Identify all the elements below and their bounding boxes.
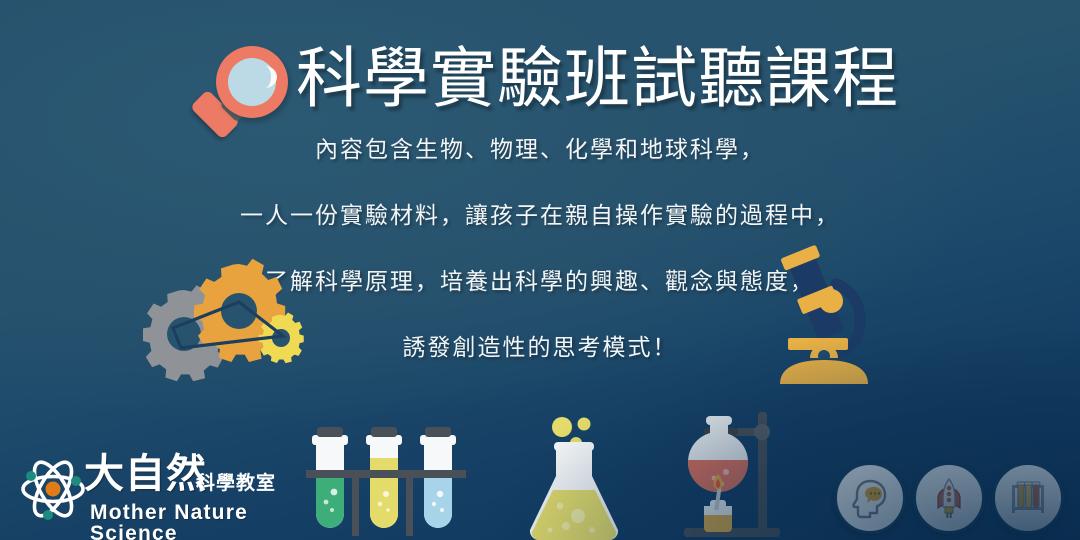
- brand-name-en: Mother Nature Science: [90, 502, 280, 540]
- stand-base: [684, 528, 780, 537]
- badge-brain[interactable]: [834, 462, 906, 534]
- bubble-large: [552, 417, 572, 437]
- brain-head-icon: [846, 474, 894, 522]
- microscope-illustration: [762, 242, 888, 390]
- rack-bar: [306, 470, 466, 478]
- brand-logo[interactable]: 大自然 科學教室 Mother Nature Science: [18, 448, 280, 534]
- erlenmeyer-flask-icon: [516, 412, 632, 540]
- brand-tagline-cn: 科學教室: [196, 474, 276, 493]
- badge-rocket[interactable]: [913, 462, 985, 534]
- flask-illustration: [516, 412, 632, 540]
- poster-canvas: 科學實驗班試聽課程 內容包含生物、物理、化學和地球科學， 一人一份實驗材料，讓孩…: [0, 0, 1080, 540]
- poster-header: 科學實驗班試聽課程: [0, 18, 1080, 138]
- bubble-medium: [578, 418, 591, 431]
- test-tube-rack-icon: [306, 424, 466, 540]
- page-title: 科學實驗班試聽課程: [296, 44, 899, 113]
- gears-illustration: [143, 258, 318, 383]
- burner-body: [704, 514, 732, 532]
- gears-icon: [143, 258, 318, 383]
- badge-group: [828, 458, 1068, 540]
- body-line-1: 內容包含生物、物理、化學和地球科學，: [0, 138, 1080, 204]
- brand-name-cn: 大自然: [84, 454, 207, 494]
- badge-test-tubes[interactable]: [992, 462, 1064, 534]
- round-flask-burner-icon: [676, 402, 798, 540]
- rocket-icon: [925, 474, 973, 522]
- test-tube-rack-icon: [1004, 474, 1052, 522]
- test-tubes-illustration: [306, 424, 466, 540]
- atom-illustration: [18, 454, 88, 524]
- microscope-icon: [762, 242, 888, 390]
- burner-illustration: [676, 402, 798, 540]
- atom-icon: [18, 454, 88, 524]
